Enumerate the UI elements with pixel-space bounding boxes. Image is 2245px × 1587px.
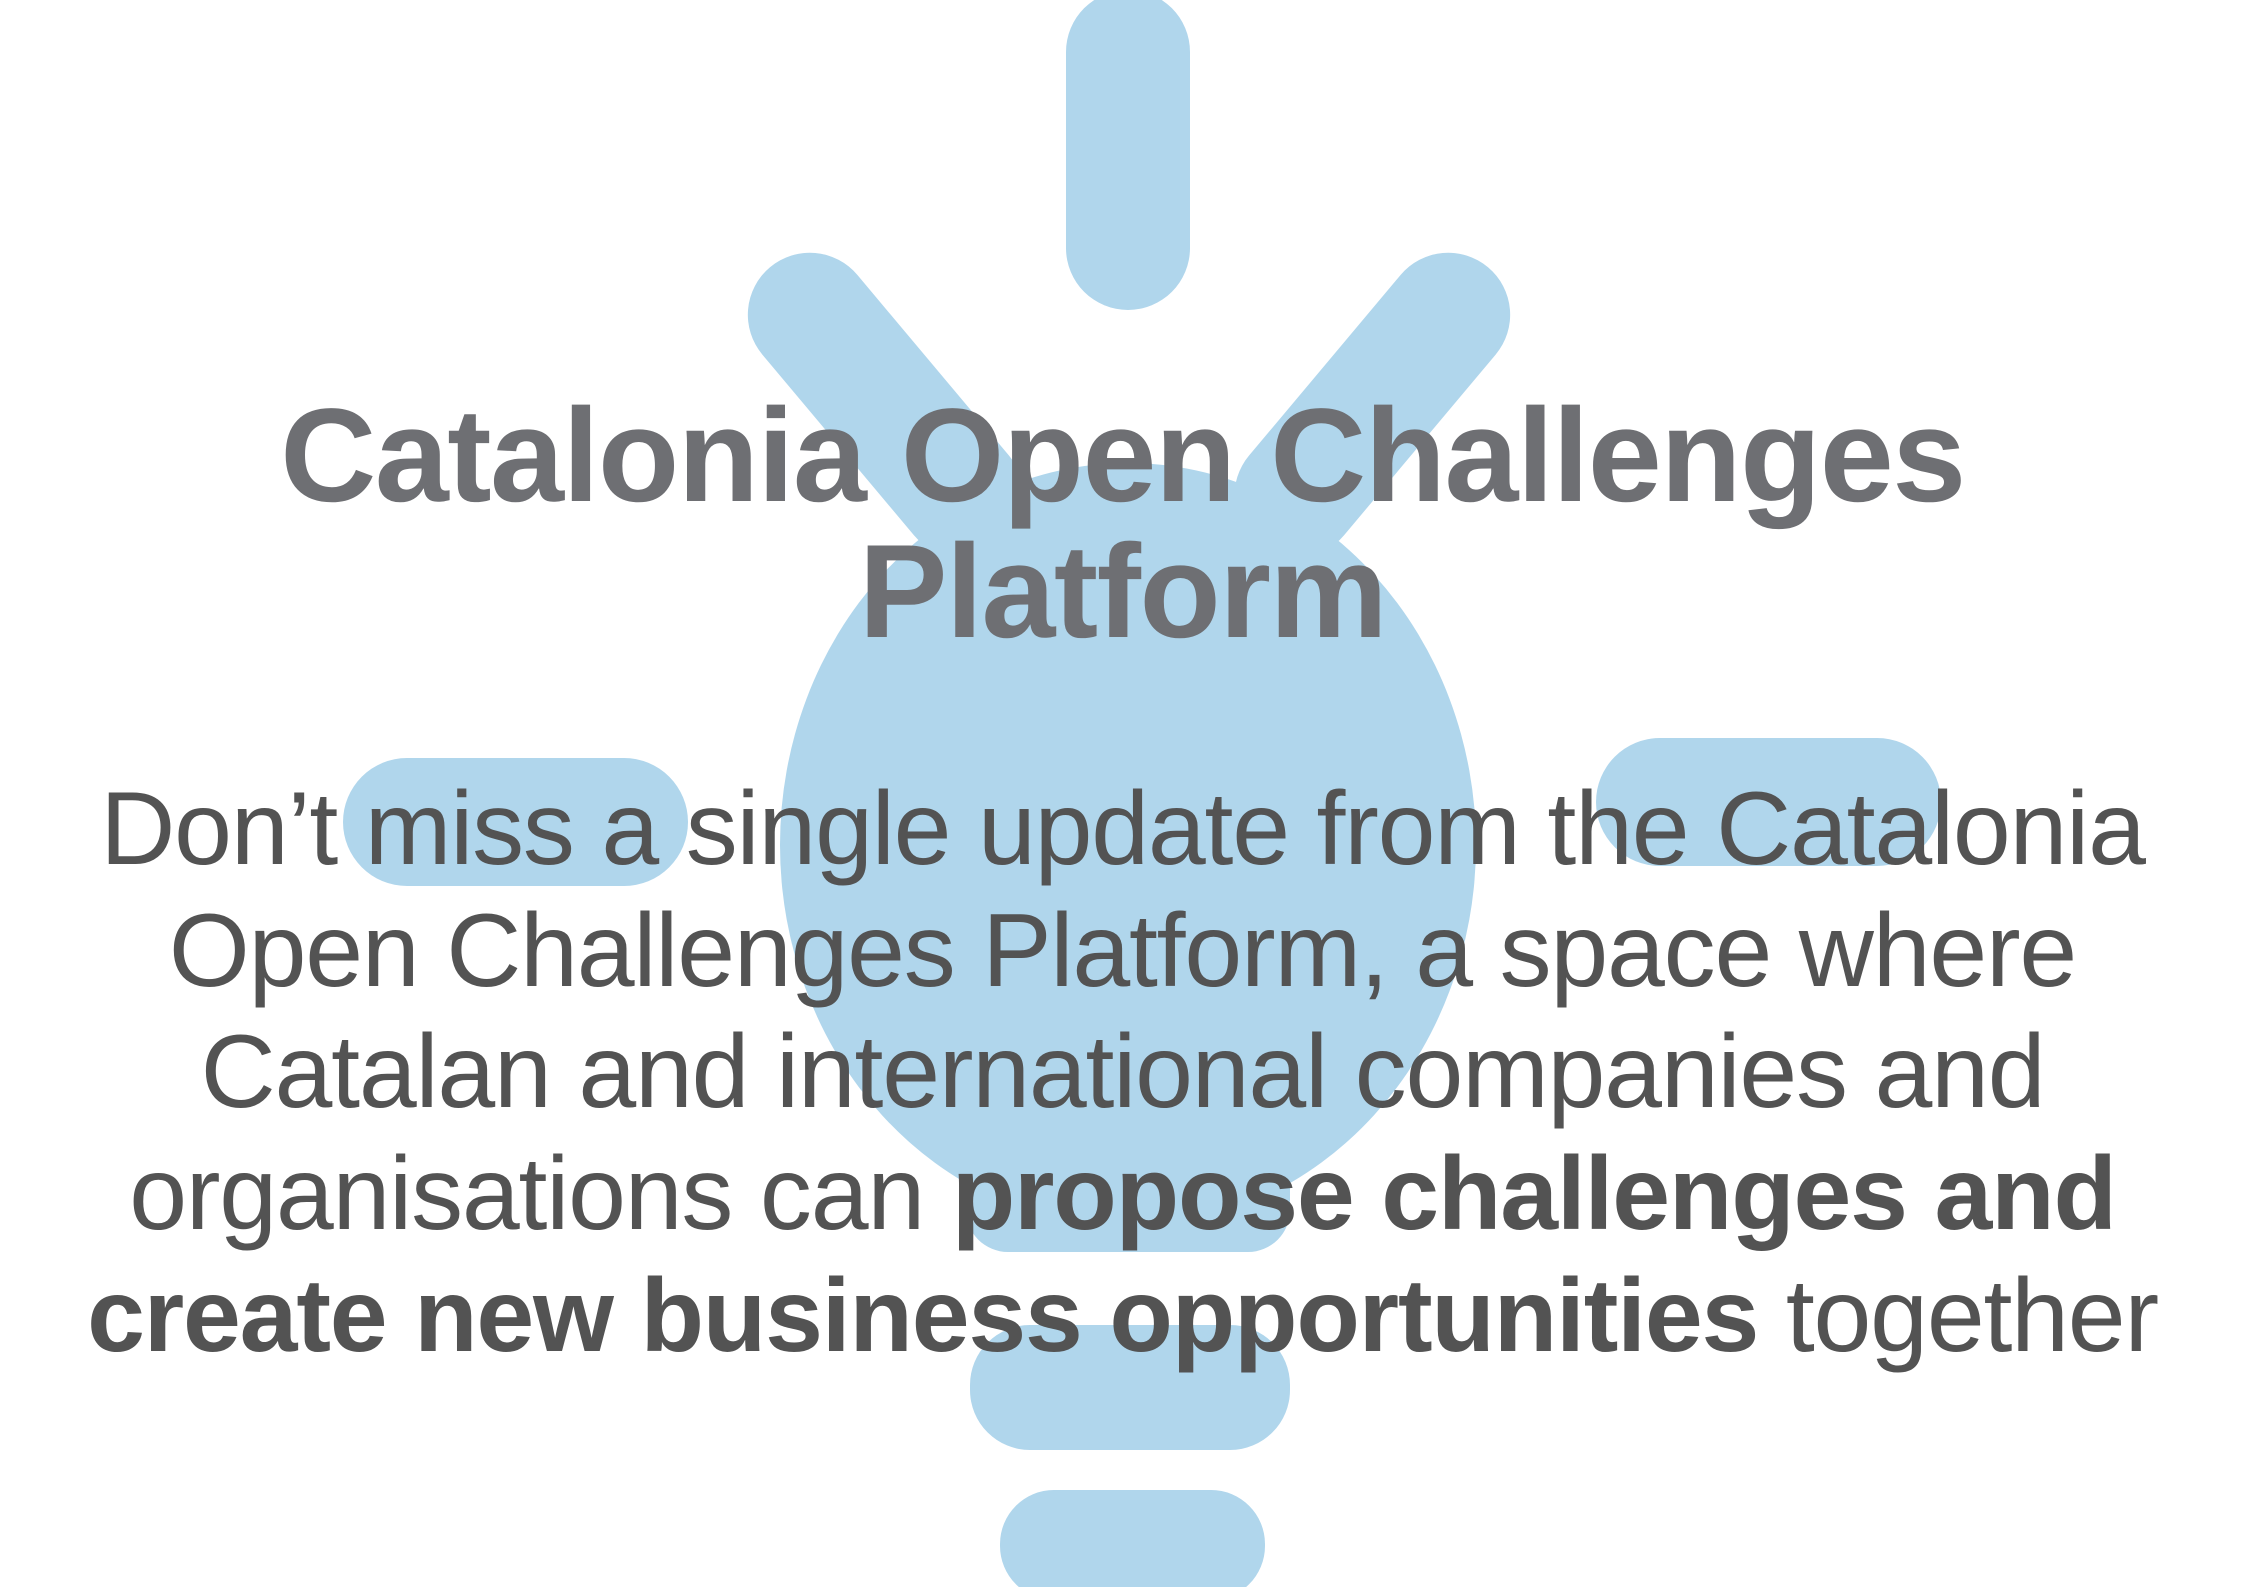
description-paragraph: Don’t miss a single update from the Cata… [0, 769, 2245, 1377]
description-trailing: together [1758, 1258, 2158, 1374]
page-title: Catalonia Open Challenges Platform [0, 389, 2245, 660]
text-content: Catalonia Open Challenges Platform Don’t… [0, 0, 2245, 1587]
poster-canvas: Catalonia Open Challenges Platform Don’t… [0, 0, 2245, 1587]
